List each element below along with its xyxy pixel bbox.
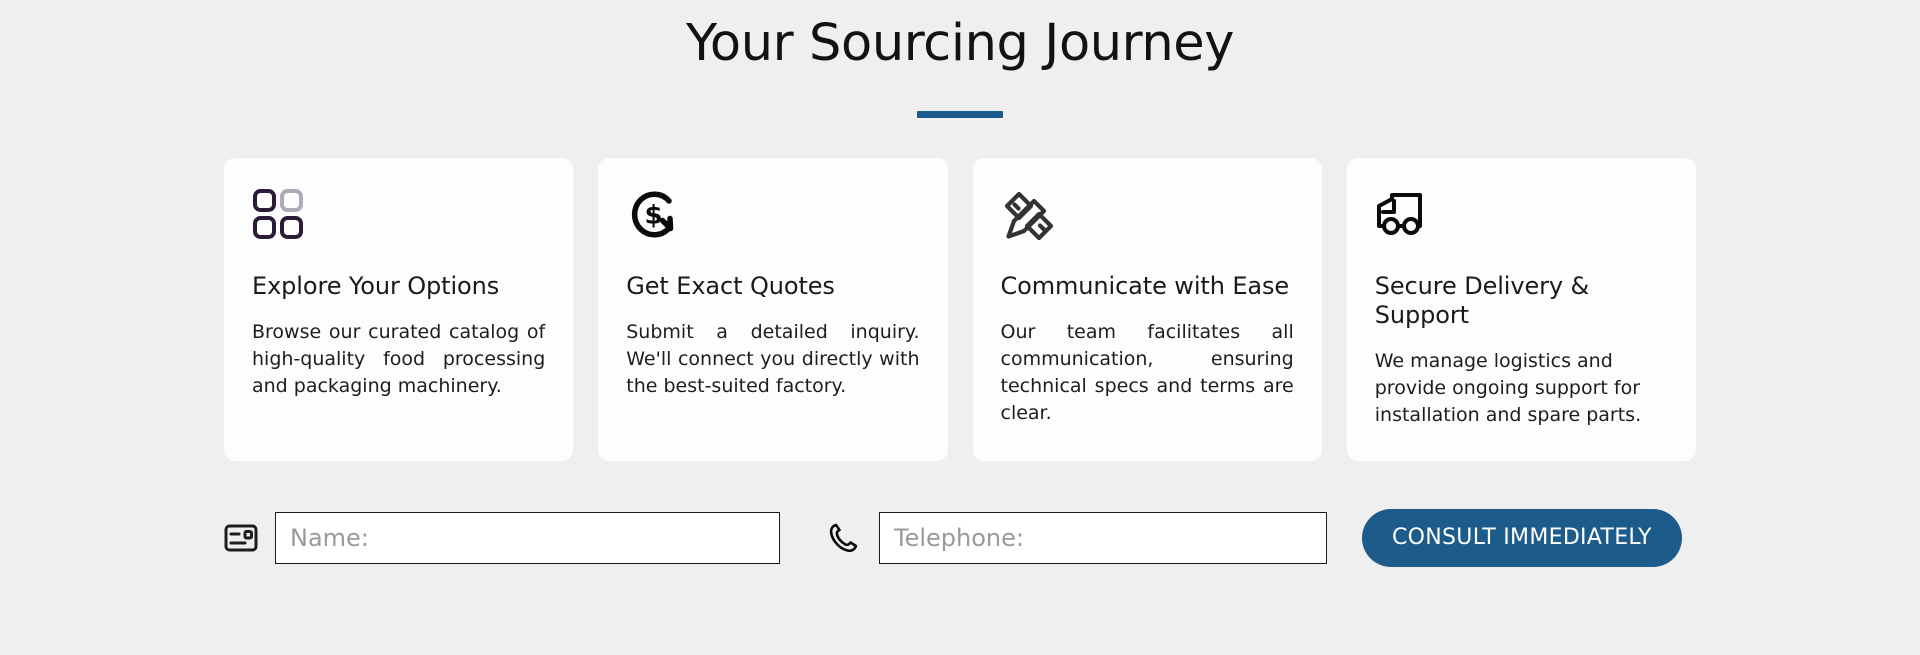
- card-description: Our team facilitates all communication, …: [1001, 319, 1294, 427]
- journey-card: Communicate with Ease Our team facilitat…: [973, 158, 1322, 461]
- name-input[interactable]: [275, 512, 780, 564]
- consult-form-row: CONSULT IMMEDIATELY: [224, 509, 1696, 567]
- journey-card: $ Get Exact Quotes Submit a detailed inq…: [598, 158, 947, 461]
- journey-card: Explore Your Options Browse our curated …: [224, 158, 573, 461]
- pen-ruler-icon: [1001, 188, 1294, 246]
- title-underline-rule: [917, 111, 1003, 118]
- card-description: Submit a detailed inquiry. We'll connect…: [626, 319, 919, 400]
- svg-text:$: $: [645, 201, 663, 231]
- card-title: Explore Your Options: [252, 272, 545, 301]
- phone-icon: [828, 522, 874, 554]
- delivery-truck-icon: [1375, 188, 1668, 246]
- telephone-input[interactable]: [879, 512, 1327, 564]
- name-field-group: [224, 512, 780, 564]
- card-title: Communicate with Ease: [1001, 272, 1294, 301]
- card-description: We manage logistics and provide ongoing …: [1375, 348, 1668, 429]
- phone-field-group: [828, 512, 1327, 564]
- consult-immediately-button[interactable]: CONSULT IMMEDIATELY: [1362, 509, 1682, 567]
- page-title: Your Sourcing Journey: [0, 14, 1920, 73]
- dollar-refresh-icon: $: [626, 188, 919, 246]
- card-description: Browse our curated catalog of high-quali…: [252, 319, 545, 400]
- grid-squares-icon: [252, 188, 545, 246]
- journey-cards-row: Explore Your Options Browse our curated …: [224, 158, 1696, 461]
- sourcing-journey-section: Your Sourcing Journey Explore Your Optio…: [0, 0, 1920, 655]
- contact-card-icon: [224, 523, 270, 553]
- journey-card: Secure Delivery & Support We manage logi…: [1347, 158, 1696, 461]
- card-title: Secure Delivery & Support: [1375, 272, 1668, 330]
- card-title: Get Exact Quotes: [626, 272, 919, 301]
- section-heading: Your Sourcing Journey: [0, 14, 1920, 118]
